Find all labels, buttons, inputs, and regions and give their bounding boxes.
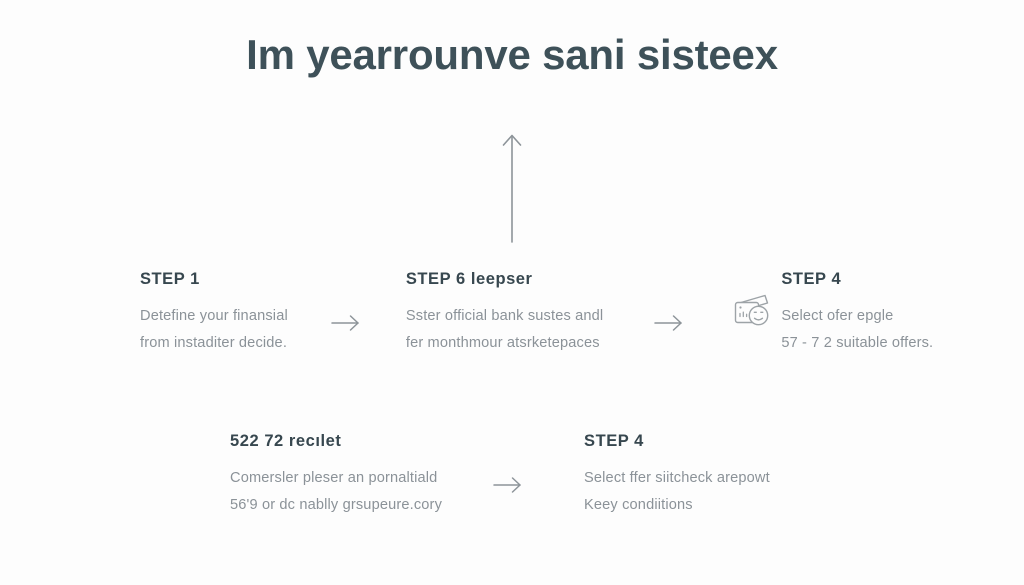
step-description-line: fer monthmour atsrketepaces (406, 330, 603, 357)
infographic-canvas: Im yearrounve sani sisteex STEP 1 Detefi… (0, 0, 1024, 585)
step-description-line: Keey condiitions (584, 492, 770, 519)
step-item[interactable]: STEP 4 Select ffer siitcheck arepowt Kee… (584, 432, 770, 519)
step-item[interactable]: STEP 6 leepser Sster official bank suste… (406, 270, 603, 357)
arrow-right-icon (492, 474, 526, 496)
page-title: Im yearrounve sani sisteex (0, 31, 1024, 79)
arrow-right-icon (653, 312, 687, 334)
steps-row-bottom: 522 72 recılet Comersler pleser an porna… (230, 432, 930, 519)
step-item[interactable]: 522 72 recılet Comersler pleser an porna… (230, 432, 442, 519)
step-body: STEP 4 Select ofer epgle 57 - 7 2 suitab… (781, 270, 933, 357)
step-body: STEP 6 leepser Sster official bank suste… (406, 270, 603, 357)
step-description-line: Detefine your finansial (140, 303, 288, 330)
step-description-line: 57 - 7 2 suitable offers. (781, 330, 933, 357)
step-label: STEP 4 (584, 432, 770, 452)
step-body: 522 72 recılet Comersler pleser an porna… (230, 432, 442, 519)
step-item[interactable]: STEP 1 Detefine your finansial from inst… (140, 270, 288, 357)
step-description-line: from instaditer decide. (140, 330, 288, 357)
arrow-right-icon (330, 312, 364, 334)
step-description-line: Select ffer siitcheck arepowt (584, 465, 770, 492)
step-body: STEP 4 Select ffer siitcheck arepowt Kee… (584, 432, 770, 519)
step-label: STEP 1 (140, 270, 288, 290)
step-description-line: Sster official bank sustes andl (406, 303, 603, 330)
step-description-line: Comersler pleser an pornaltiald (230, 465, 442, 492)
step-label: STEP 6 leepser (406, 270, 603, 290)
step-body: STEP 1 Detefine your finansial from inst… (140, 270, 288, 357)
card-wallet-icon (729, 290, 775, 336)
step-label: 522 72 recılet (230, 432, 442, 452)
arrow-up-icon (489, 128, 535, 243)
step-description-line: 56'9 or dc nablly grsupeure.cory (230, 492, 442, 519)
step-item[interactable]: STEP 4 Select ofer epgle 57 - 7 2 suitab… (729, 270, 933, 357)
step-description-line: Select ofer epgle (781, 303, 933, 330)
step-label: STEP 4 (781, 270, 933, 290)
steps-row-top: STEP 1 Detefine your finansial from inst… (140, 270, 1020, 357)
